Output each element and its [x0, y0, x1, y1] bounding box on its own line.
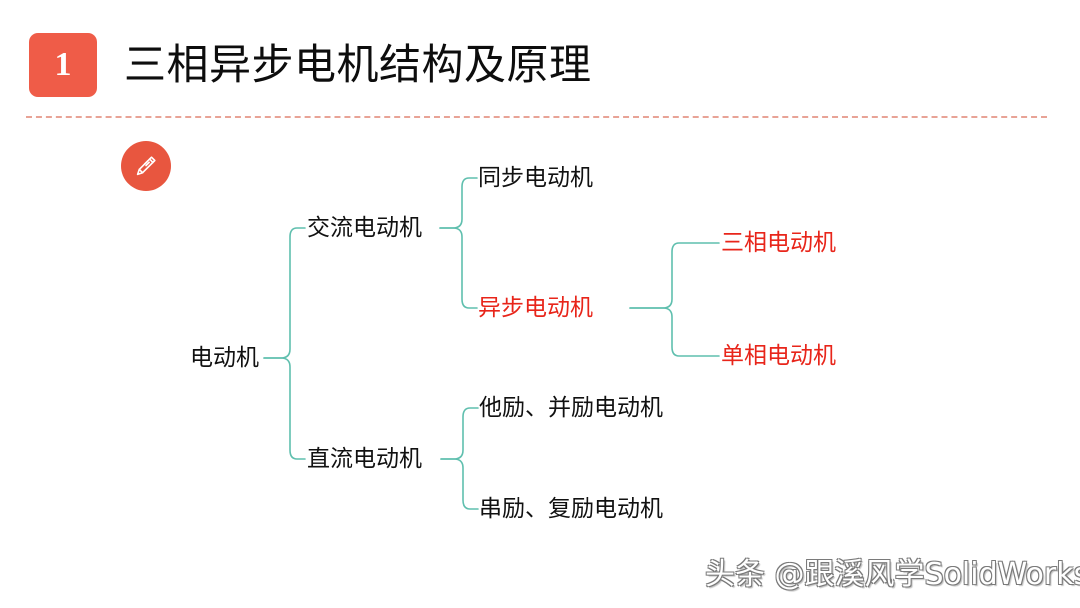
- header-divider: [26, 116, 1047, 118]
- pencil-icon: [131, 151, 161, 181]
- section-number-label: 1: [55, 48, 72, 82]
- slide-canvas: 1 三相异步电机结构及原理: [0, 0, 1080, 608]
- watermark: 头条 @跟溪风学SolidWorks: [705, 555, 1080, 595]
- tree-node-three-phase-motor: 三相电动机: [721, 228, 836, 258]
- tree-node-series-motor: 串励、复励电动机: [479, 494, 663, 524]
- tree-node-ac-motor: 交流电动机: [307, 213, 422, 243]
- tree-node-shunt-motor: 他励、并励电动机: [479, 393, 663, 423]
- tree-node-async-motor: 异步电动机: [478, 293, 593, 323]
- page-title: 三相异步电机结构及原理: [124, 36, 592, 94]
- tree-node-single-phase-motor: 单相电动机: [721, 341, 836, 371]
- pencil-icon-badge: [121, 141, 171, 191]
- tree-node-root: 电动机: [190, 343, 259, 373]
- tree-node-dc-motor: 直流电动机: [307, 444, 422, 474]
- section-number-badge: 1: [29, 33, 97, 97]
- tree-node-sync-motor: 同步电动机: [478, 163, 593, 193]
